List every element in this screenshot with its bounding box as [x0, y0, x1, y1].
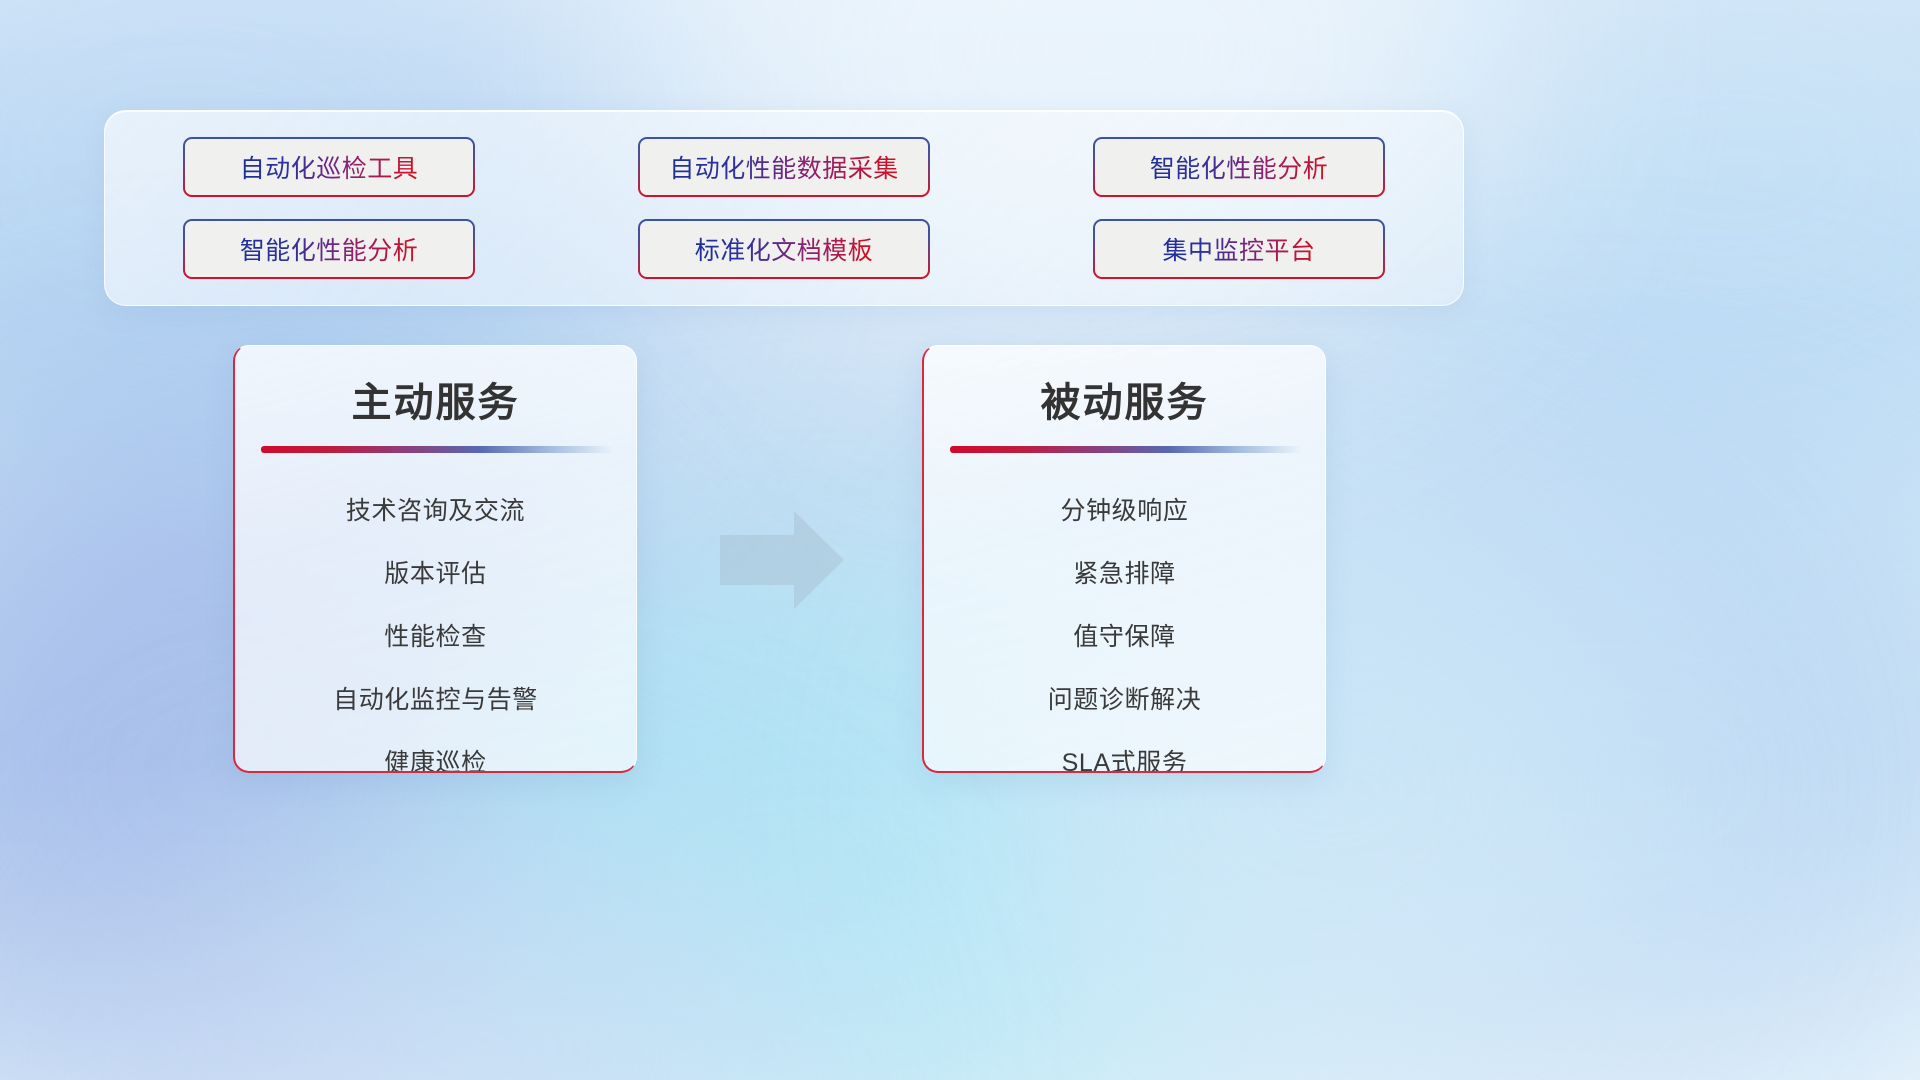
list-item: 版本评估 [384, 554, 486, 590]
card-title: 主动服务 [261, 378, 610, 428]
capability-chip-label: 自动化巡检工具 [240, 149, 419, 185]
capability-chip-6[interactable]: 集中监控平台 [1093, 219, 1385, 279]
list-item: SLA式服务 [1062, 743, 1188, 773]
card-divider [261, 446, 613, 453]
service-card-passive[interactable]: 被动服务 分钟级响应 紧急排障 值守保障 问题诊断解决 SLA式服务 [922, 345, 1326, 773]
capability-chip-label: 智能化性能分析 [1150, 149, 1329, 185]
capability-chip-label: 标准化文档模板 [695, 231, 874, 267]
service-card-active[interactable]: 主动服务 技术咨询及交流 版本评估 性能检查 自动化监控与告警 健康巡检 [233, 345, 637, 773]
list-item: 紧急排障 [1073, 554, 1175, 590]
capability-chip-2[interactable]: 自动化性能数据采集 [638, 137, 930, 197]
list-item: 技术咨询及交流 [346, 491, 525, 527]
list-item: 分钟级响应 [1060, 491, 1188, 527]
card-title: 被动服务 [950, 378, 1299, 428]
capability-chip-label: 集中监控平台 [1162, 231, 1315, 267]
capability-row-2: 智能化性能分析 标准化文档模板 集中监控平台 [183, 219, 1385, 279]
capability-chip-label: 智能化性能分析 [240, 231, 419, 267]
capability-chip-1[interactable]: 自动化巡检工具 [183, 137, 475, 197]
capability-chip-4[interactable]: 智能化性能分析 [183, 219, 475, 279]
arrow-right-icon [716, 505, 848, 615]
list-item: 值守保障 [1073, 617, 1175, 653]
list-item: 健康巡检 [384, 743, 486, 773]
card-item-list: 分钟级响应 紧急排障 值守保障 问题诊断解决 SLA式服务 [950, 491, 1299, 773]
capability-chip-label: 自动化性能数据采集 [669, 149, 899, 185]
list-item: 性能检查 [384, 617, 486, 653]
list-item: 自动化监控与告警 [333, 680, 538, 716]
card-divider [950, 446, 1302, 453]
capability-panel: 自动化巡检工具 自动化性能数据采集 智能化性能分析 智能化性能分析 标准化文档模… [104, 110, 1464, 306]
capability-chip-5[interactable]: 标准化文档模板 [638, 219, 930, 279]
capability-chip-3[interactable]: 智能化性能分析 [1093, 137, 1385, 197]
slide-canvas: 自动化巡检工具 自动化性能数据采集 智能化性能分析 智能化性能分析 标准化文档模… [0, 0, 1920, 1080]
list-item: 问题诊断解决 [1048, 680, 1202, 716]
card-item-list: 技术咨询及交流 版本评估 性能检查 自动化监控与告警 健康巡检 [261, 491, 610, 773]
capability-row-1: 自动化巡检工具 自动化性能数据采集 智能化性能分析 [183, 137, 1385, 197]
